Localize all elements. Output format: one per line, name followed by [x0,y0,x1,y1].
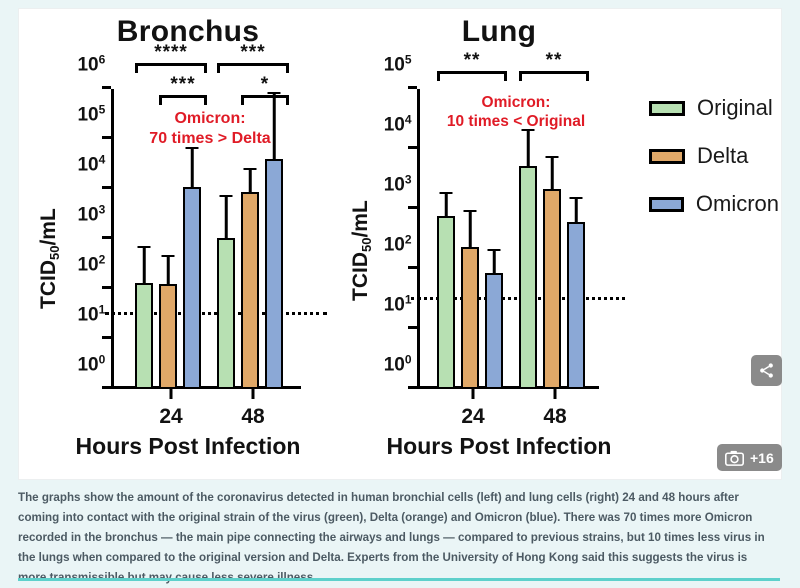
camera-icon [725,450,744,466]
y-ticklabel-exp: 5 [99,102,106,116]
y-ticklabel-mantissa: 10 [384,114,405,135]
caption-divider [18,578,780,581]
y-axis-label-tail: /mL [37,208,60,245]
photo-count-badge[interactable]: +16 [717,444,782,471]
legend-item-original: Original [649,95,779,121]
chart-title-lung: Lung [349,15,649,49]
errorbar-line [551,158,554,189]
sig-stars: * [241,75,289,94]
errorbar-line [493,251,496,273]
y-ticklabel-exp: 5 [405,52,412,66]
share-icon [758,362,775,379]
bar-rect [217,238,235,389]
article-figure-block: Bronchus TCID50/mL 100 101 [0,0,800,588]
y-ticklabel-2: 102 [77,252,105,276]
y-ticklabel-mantissa: 10 [384,174,405,195]
y-tick-3 [102,236,111,239]
y-ticklabel-6: 106 [77,52,105,76]
y-ticklabel-mantissa: 10 [77,104,98,125]
legend-swatch-original [649,101,685,116]
plot-area-lung: 100 101 102 103 104 105 24 [417,89,599,389]
legend-label-delta: Delta [697,143,748,169]
figure-image-panel: Bronchus TCID50/mL 100 101 [18,8,782,480]
legend-swatch-omicron [649,197,684,212]
bar-group-24: 24 [435,89,511,389]
y-tick-3 [408,206,417,209]
y-ticklabel-mantissa: 10 [384,54,405,75]
bar-rect [241,192,259,389]
x-tick-24 [472,389,475,399]
y-ticklabel-mantissa: 10 [384,354,405,375]
y-ticklabel-4: 104 [77,152,105,176]
x-ticklabel-24: 24 [159,405,182,429]
x-tick-24 [170,389,173,399]
sig-bracket-shape [519,71,589,81]
y-tick-5 [408,86,417,89]
x-ticklabel-48: 48 [543,405,566,429]
errorbar-cap [244,168,257,171]
y-tick-0 [102,386,111,389]
legend-item-omicron: Omicron [649,191,779,217]
errorbar-line [527,131,530,166]
y-tick-2 [102,286,111,289]
figure-caption: The graphs show the amount of the corona… [18,488,778,588]
annotation-lung: Omicron: 10 times < Original [411,93,621,132]
errorbar-line [445,194,448,216]
sig-bracket-shape [159,95,207,105]
sig-stars: ** [519,51,589,70]
x-axis-title-bronchus: Hours Post Infection [23,433,353,460]
bar-rect [485,273,503,389]
errorbar-cap [570,197,583,200]
y-axis-label-base: TCID [349,252,372,301]
sig-stars: *** [217,43,289,62]
x-ticklabel-48: 48 [241,405,264,429]
errorbar-cap [440,192,453,195]
errorbar-line [575,199,578,222]
y-ticklabel-mantissa: 10 [77,354,98,375]
bar-rect [159,284,177,389]
bar-rect [265,159,283,389]
errorbar-cap [220,195,233,198]
y-tick-6 [102,86,111,89]
legend-swatch-delta [649,149,685,164]
x-tick-48 [252,389,255,399]
annotation-line-2: 10 times < Original [411,112,621,131]
bar-rect [437,216,455,389]
y-axis-label-tail: /mL [349,200,372,237]
errorbar-line [469,212,472,247]
share-button[interactable] [751,355,782,386]
y-ticklabel-exp: 3 [405,172,412,186]
chart-legend: Original Delta Omicron [649,95,779,239]
x-ticklabel-24: 24 [461,405,484,429]
y-tick-4 [408,146,417,149]
y-ticklabel-mantissa: 10 [77,204,98,225]
y-ticklabel-mantissa: 10 [77,54,98,75]
y-axis-line [111,89,114,389]
annotation-line-1: Omicron: [115,109,305,129]
sig-bracket-shape [135,63,207,73]
errorbar-cap [546,156,559,159]
sig-stars: *** [159,75,207,94]
y-ticklabel-exp: 2 [99,252,106,266]
y-axis-label-base: TCID [37,260,60,309]
errorbar-cap [162,255,175,258]
legend-item-delta: Delta [649,143,779,169]
y-ticklabel-exp: 6 [99,52,106,66]
y-ticklabel-mantissa: 10 [77,304,98,325]
y-tick-1 [102,336,111,339]
errorbar-cap [464,210,477,213]
y-ticklabel-1: 101 [384,292,412,316]
y-tick-1 [408,326,417,329]
sig-stars: **** [135,43,207,62]
bar-rect [183,187,201,389]
y-axis-label-bronchus: TCID50/mL [37,208,61,309]
y-axis-label-sub: 50 [47,246,62,260]
y-ticklabel-mantissa: 10 [384,234,405,255]
y-ticklabel-mantissa: 10 [77,254,98,275]
y-tick-5 [102,136,111,139]
y-ticklabel-3: 103 [77,202,105,226]
y-tick-0 [408,386,417,389]
bar-rect [461,247,479,389]
annotation-line-1: Omicron: [411,93,621,112]
bar-group-48: 48 [517,89,593,389]
legend-label-omicron: Omicron [696,191,779,217]
y-ticklabel-exp: 0 [99,352,106,366]
sig-bracket-shape [241,95,289,105]
errorbar-cap [488,249,501,252]
y-ticklabel-exp: 0 [405,352,412,366]
y-ticklabel-exp: 4 [99,152,106,166]
errorbar-line [167,257,170,284]
y-axis-label-lung: TCID50/mL [349,200,373,301]
annotation-line-2: 70 times > Delta [115,129,305,149]
y-ticklabel-0: 100 [77,352,105,376]
y-ticklabel-1: 101 [77,302,105,326]
bar-rect [567,222,585,389]
y-ticklabel-exp: 3 [99,202,106,216]
x-axis-title-lung: Hours Post Infection [349,433,649,460]
y-ticklabel-3: 103 [384,172,412,196]
y-ticklabel-mantissa: 10 [384,294,405,315]
sig-bracket-shape [437,71,507,81]
errorbar-cap [138,246,151,249]
bar-rect [135,283,153,389]
y-ticklabel-0: 100 [384,352,412,376]
annotation-bronchus: Omicron: 70 times > Delta [115,109,305,149]
y-tick-2 [408,266,417,269]
errorbar-line [249,170,252,192]
errorbar-line [191,149,194,187]
y-ticklabel-5: 105 [384,52,412,76]
chart-bronchus: Bronchus TCID50/mL 100 101 [23,9,353,480]
bar-rect [543,189,561,389]
errorbar-line [225,197,228,238]
y-axis-label-sub: 50 [359,238,374,252]
legend-label-original: Original [697,95,773,121]
photo-count-label: +16 [750,450,774,466]
y-axis-line [417,89,420,389]
charts-row: Bronchus TCID50/mL 100 101 [19,9,782,480]
y-ticklabel-4: 104 [384,112,412,136]
y-tick-4 [102,186,111,189]
y-ticklabel-2: 102 [384,232,412,256]
sig-bracket-shape [217,63,289,73]
y-ticklabel-exp: 2 [405,232,412,246]
y-ticklabel-mantissa: 10 [77,154,98,175]
sig-stars: ** [437,51,507,70]
chart-lung: Lung TCID50/mL 100 101 102 [349,9,649,480]
errorbar-line [143,248,146,283]
bar-rect [519,166,537,389]
x-tick-48 [554,389,557,399]
y-ticklabel-5: 105 [77,102,105,126]
